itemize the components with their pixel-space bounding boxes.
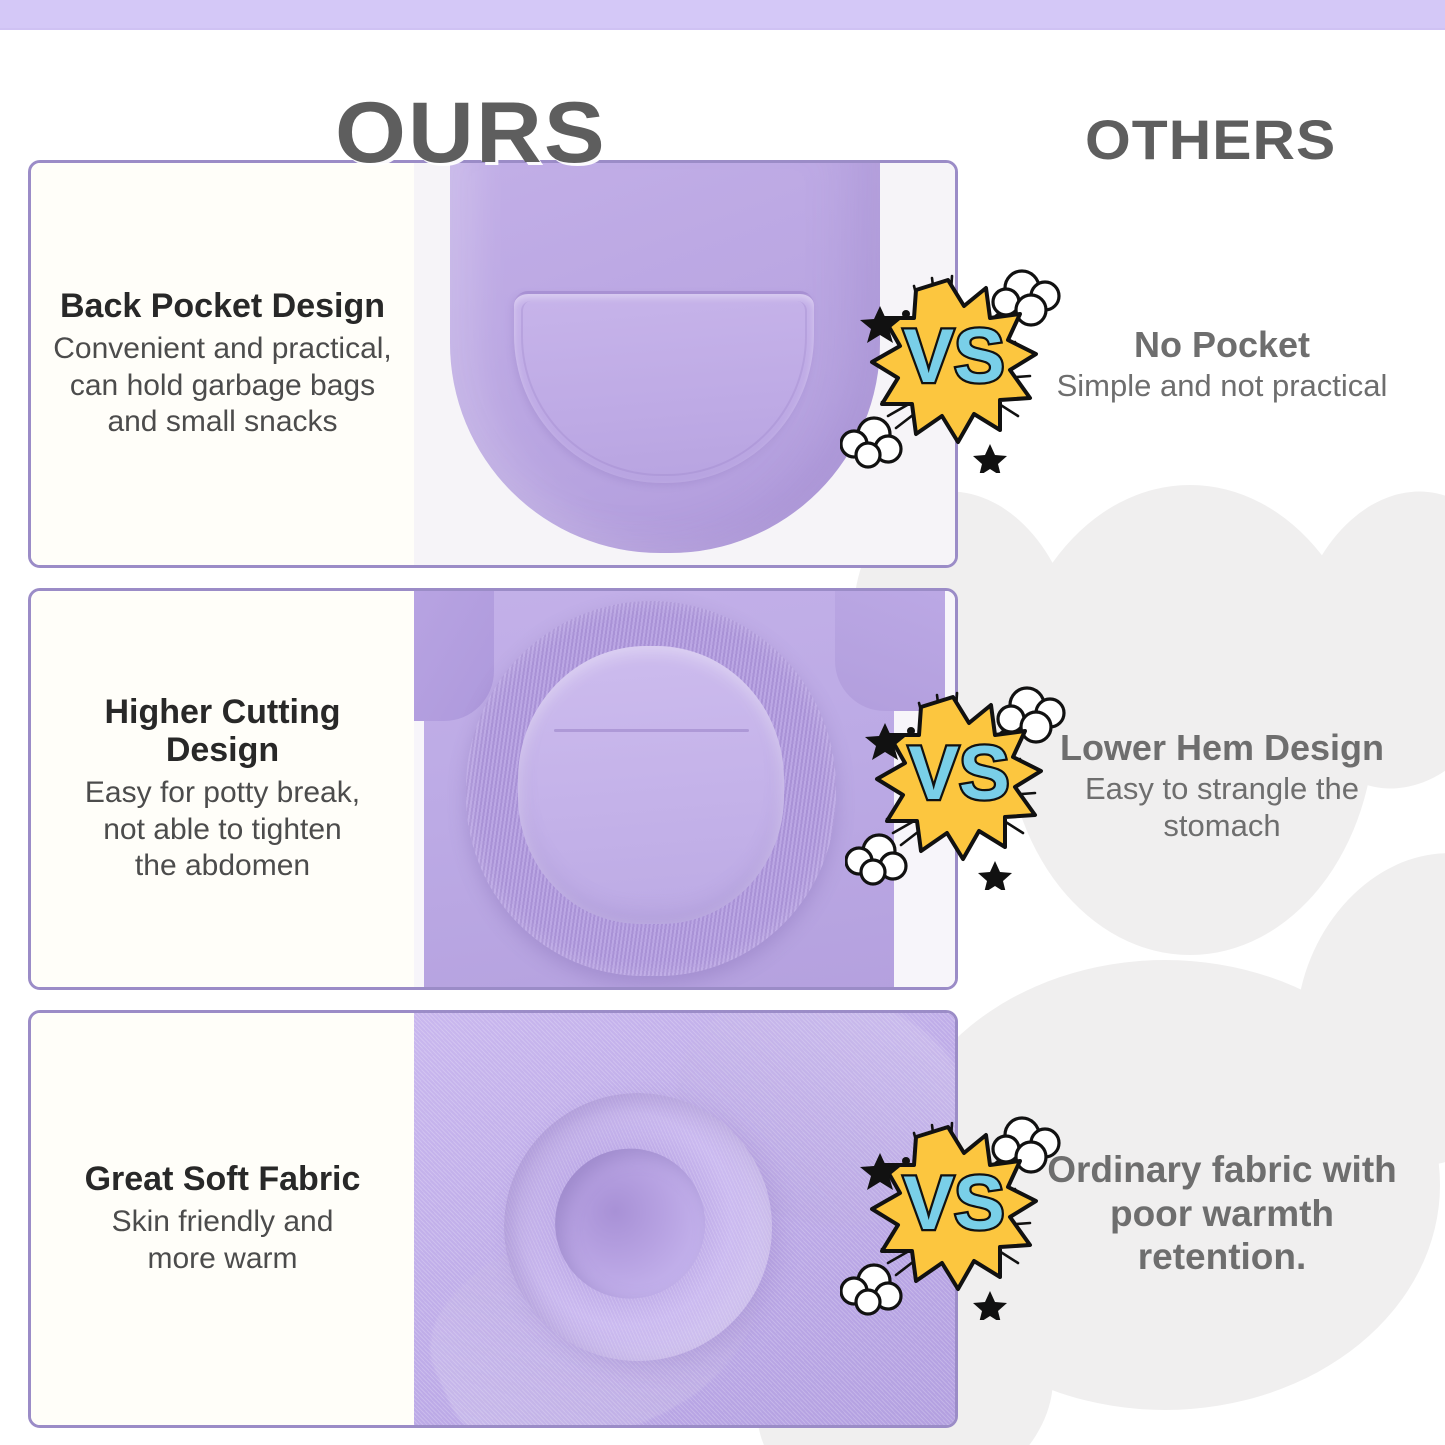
ours-text-3: Great Soft Fabric Skin friendly and more… bbox=[31, 1013, 414, 1425]
others-text-3: Ordinary fabric with poor warmth retenti… bbox=[1002, 1148, 1442, 1282]
heading-ours: OURS bbox=[335, 90, 607, 176]
comparison-infographic: OURS OTHERS Back Pocket Design Convenien… bbox=[0, 0, 1445, 1445]
heading-others: OTHERS bbox=[1085, 112, 1336, 168]
ours-photo-3 bbox=[414, 1013, 955, 1425]
ours-body-3: Skin friendly and more warm bbox=[112, 1204, 334, 1277]
ours-panel-3: Great Soft Fabric Skin friendly and more… bbox=[28, 1010, 958, 1428]
ours-title-3: Great Soft Fabric bbox=[85, 1160, 361, 1198]
others-title-3: Ordinary fabric with poor warmth retenti… bbox=[1002, 1148, 1442, 1279]
headings-row: OURS OTHERS bbox=[0, 42, 1445, 147]
top-accent-band bbox=[0, 0, 1445, 30]
comparison-row-3: Great Soft Fabric Skin friendly and more… bbox=[0, 0, 1445, 1445]
